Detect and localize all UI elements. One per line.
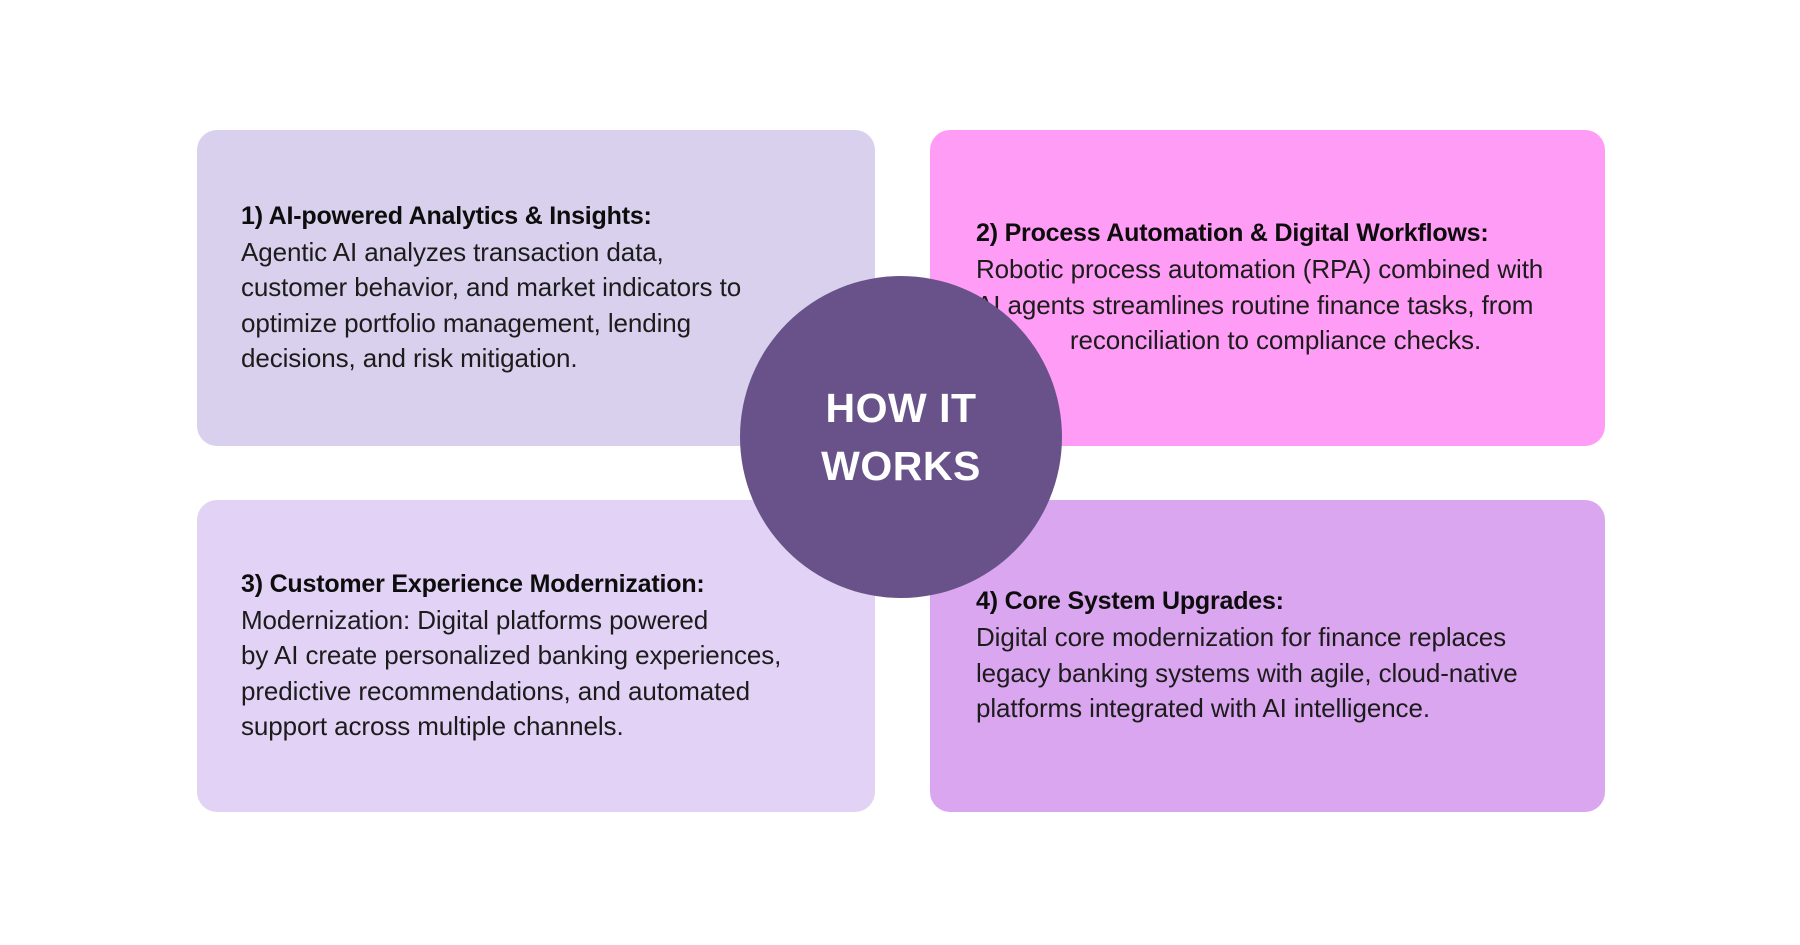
quadrant-4-body: Digital core modernization for finance r… [976, 620, 1575, 726]
quadrant-2-heading: 2) Process Automation & Digital Workflow… [976, 217, 1575, 250]
quadrant-4-body-line: legacy banking systems with agile, cloud… [976, 656, 1575, 691]
quadrant-3-body-line: predictive recommendations, and automate… [241, 674, 845, 709]
quadrant-card-4: 4) Core System Upgrades: Digital core mo… [930, 500, 1605, 812]
quadrant-1-body-line: Agentic AI analyzes transaction data, [241, 235, 845, 270]
quadrant-3-heading: 3) Customer Experience Modernization: [241, 568, 845, 601]
quadrant-1-heading: 1) AI-powered Analytics & Insights: [241, 200, 845, 233]
quadrant-3-body-line: by AI create personalized banking experi… [241, 638, 845, 673]
quadrant-3-body-line: support across multiple channels. [241, 709, 845, 744]
quadrant-4-heading: 4) Core System Upgrades: [976, 585, 1575, 618]
quadrant-4-body-line: Digital core modernization for finance r… [976, 620, 1575, 655]
quadrant-2-body: Robotic process automation (RPA) combine… [976, 252, 1575, 358]
quadrant-4-body-line: platforms integrated with AI intelligenc… [976, 691, 1575, 726]
quadrant-1-body-line: customer behavior, and market indicators… [241, 270, 845, 305]
center-hub-circle: HOW IT WORKS [740, 276, 1062, 598]
quadrant-1-body-line: optimize portfolio management, lending [241, 306, 845, 341]
quadrant-2-body-line: reconciliation to compliance checks. [1070, 325, 1481, 355]
how-it-works-infographic: 1) AI-powered Analytics & Insights: Agen… [0, 0, 1800, 945]
quadrant-1-body: Agentic AI analyzes transaction data, cu… [241, 235, 845, 376]
quadrant-3-body: Modernization: Digital platforms powered… [241, 603, 845, 744]
quadrant-2-body-line: Robotic process automation (RPA) combine… [976, 252, 1575, 287]
hub-title-line-1: HOW IT [825, 379, 976, 437]
quadrant-3-body-line: Modernization: Digital platforms powered [241, 603, 845, 638]
hub-title-line-2: WORKS [821, 437, 981, 495]
quadrant-2-body-line: AI agents streamlines routine finance ta… [976, 288, 1575, 323]
quadrant-card-3: 3) Customer Experience Modernization: Mo… [197, 500, 875, 812]
